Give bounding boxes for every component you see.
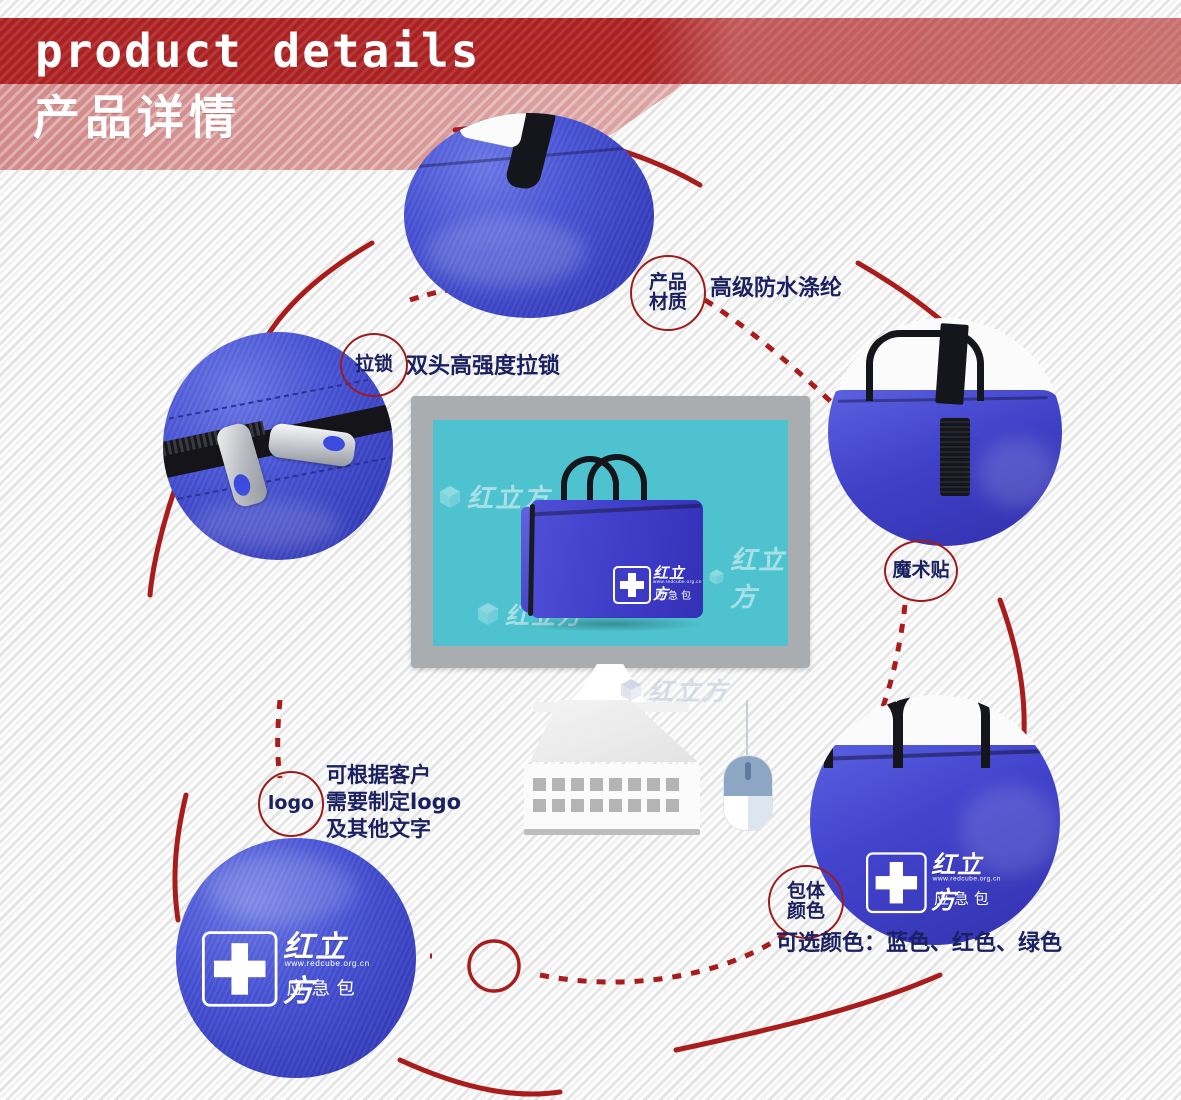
- page-title-en: product details: [35, 24, 480, 78]
- callout-bubble-material: 产品 材质: [630, 255, 706, 331]
- brand-url-logo: www.redcube.org.cn: [285, 959, 370, 968]
- brand-subtitle-color: 应急包: [934, 886, 994, 907]
- callout-color-line1: 包体: [787, 882, 825, 902]
- key: [552, 778, 565, 791]
- cube-icon-wm-bottom: [477, 602, 499, 626]
- brand-subtitle-hero: 应急包: [655, 587, 694, 602]
- arc-bottom-right: [676, 975, 940, 1050]
- fabric-sheen-velcro: [978, 438, 1058, 508]
- callout-material-line2: 材质: [649, 293, 687, 313]
- brand-url-hero: www.redcube.org.cn: [653, 579, 702, 584]
- keyboard-row-2: [533, 799, 679, 812]
- watermark-screen-right: 红立方: [709, 540, 788, 614]
- mouse-cord: [746, 700, 748, 758]
- callout-logo-line1: logo: [268, 794, 314, 814]
- page-title-cn: 产品详情: [33, 92, 241, 146]
- brand-url-color: www.redcube.org.cn: [933, 875, 1001, 882]
- key: [571, 799, 584, 812]
- dash-color-connector: [540, 930, 790, 982]
- velcro-patch: [940, 418, 970, 496]
- keyboard-row-1: [533, 778, 679, 791]
- key: [590, 799, 603, 812]
- key: [628, 799, 641, 812]
- callout-velcro-line1: 魔术贴: [892, 561, 949, 581]
- callout-bubble-material-lines: 产品 材质: [649, 273, 687, 313]
- callout-material-line1: 产品: [649, 273, 687, 293]
- bag-handle-right-color: [894, 695, 990, 768]
- key: [628, 778, 641, 791]
- key: [609, 799, 622, 812]
- key: [533, 799, 546, 812]
- key: [533, 778, 546, 791]
- bag-hero-reflection: [516, 616, 706, 632]
- callout-logo-text-line3: 及其他文字: [326, 816, 461, 843]
- callout-bubble-velcro: 魔术贴: [884, 540, 958, 602]
- key: [666, 799, 679, 812]
- callout-text-logo: 可根据客户 需要制定logo 及其他文字: [326, 762, 461, 843]
- keyboard-mockup: [524, 764, 700, 830]
- watermark-text-right: 红立方: [730, 540, 788, 614]
- monitor-neck: [571, 664, 649, 706]
- callout-color-line2: 颜色: [787, 902, 825, 922]
- key: [647, 799, 660, 812]
- product-details-page: product details 产品详情: [0, 0, 1181, 1100]
- bag-hero-logo: 红立方 www.redcube.org.cn 应急包: [613, 562, 699, 604]
- callout-text-material: 高级防水涤纶: [710, 270, 842, 302]
- cube-icon-wm-left: [439, 485, 461, 509]
- callout-text-color: 可选颜色：蓝色、红色、绿色: [776, 925, 1062, 957]
- fabric-sheen-zipper: [191, 500, 341, 550]
- photo-circle-material: [404, 113, 654, 318]
- mouse-left-button: [724, 796, 748, 830]
- photo-circle-velcro: [828, 318, 1062, 546]
- brand-subtitle-logo: 应急包: [287, 974, 362, 1001]
- cross-icon-box-logo: [202, 931, 277, 1006]
- cross-icon-horizontal-logo: [214, 961, 266, 978]
- mouse-right-button: [748, 796, 772, 830]
- arc-bottom-left: [400, 1060, 560, 1094]
- fabric-sheen-material: [426, 217, 586, 287]
- cross-icon-box-color: [866, 852, 927, 913]
- key: [571, 778, 584, 791]
- cross-icon-horizontal-color: [876, 876, 917, 889]
- photo-circle-logo: 红立方 www.redcube.org.cn 应急包: [176, 838, 416, 1078]
- bag-handle-left-color: [824, 695, 902, 768]
- product-bag-hero: 红立方 www.redcube.org.cn 应急包: [521, 456, 713, 621]
- callout-bubble-color-lines: 包体 颜色: [787, 882, 825, 922]
- key: [552, 799, 565, 812]
- cross-icon-box-hero: [613, 566, 651, 604]
- key: [609, 778, 622, 791]
- callout-bubble-logo: logo: [258, 771, 324, 837]
- bag-handle-strap-velcro: [935, 323, 969, 405]
- keyboard-foot: [524, 829, 700, 835]
- fabric-sheen-color: [960, 785, 1060, 875]
- callout-logo-text-line2: 需要制定logo: [326, 789, 461, 816]
- callout-text-zipper: 双头高强度拉锁: [406, 348, 560, 380]
- key: [666, 778, 679, 791]
- callout-bubble-zipper: 拉锁: [340, 333, 408, 397]
- decorative-circle-bottom: [469, 941, 519, 991]
- fabric-sheen-logo: [206, 854, 356, 924]
- callout-zipper-line1: 拉锁: [355, 355, 393, 375]
- callout-logo-text-line1: 可根据客户: [326, 762, 461, 789]
- monitor-mockup: 红立方 红立方 红立方: [411, 396, 810, 668]
- bag-logo-large: 红立方 www.redcube.org.cn 应急包: [202, 922, 377, 1007]
- dash-logo-connector: [278, 700, 280, 778]
- key: [590, 778, 603, 791]
- photo-circle-color: 红立方 www.redcube.org.cn 应急包: [810, 695, 1060, 945]
- cross-icon-horizontal-hero: [620, 581, 644, 589]
- key: [647, 778, 660, 791]
- mouse-mockup: [723, 755, 773, 831]
- mouse-scroll-wheel: [745, 762, 751, 780]
- monitor-screen: 红立方 红立方 红立方: [433, 420, 788, 646]
